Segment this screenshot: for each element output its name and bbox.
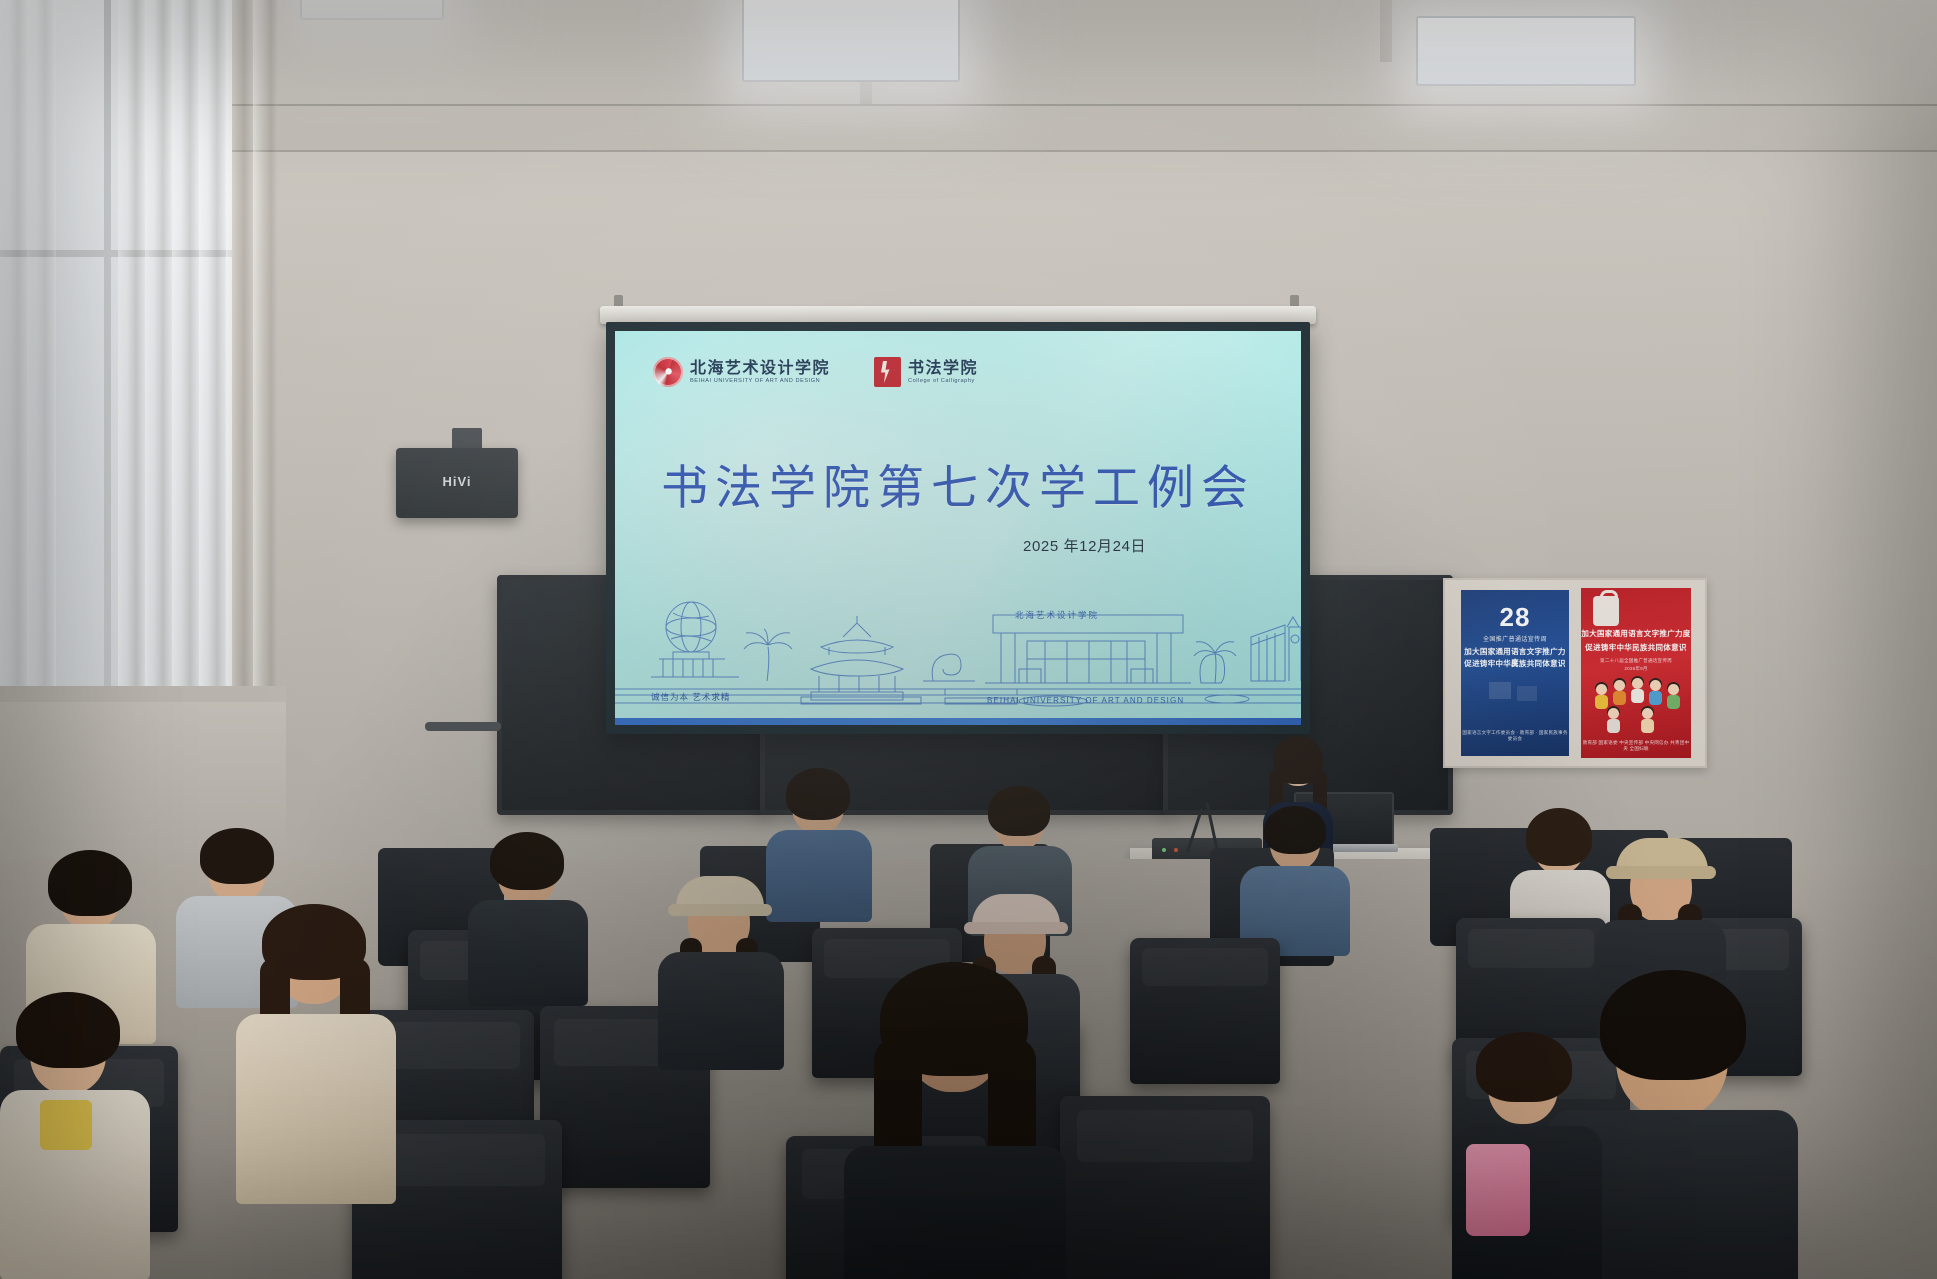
poster-sub: 第二十八届全国推广普通话宣传周 xyxy=(1581,658,1691,664)
window-frame xyxy=(104,0,111,690)
slide-motto: 诚信为本 艺术求精 xyxy=(651,691,730,703)
meeting-room-photo: HiVi 北海艺术设计学院 BEIHAI UNIVERSITY OF ART A… xyxy=(0,0,1937,1279)
logo-en-text: BEIHAI UNIVERSITY OF ART AND DESIGN xyxy=(690,379,830,384)
audience-member xyxy=(658,866,784,1066)
poster-number: 28 xyxy=(1461,602,1569,633)
seat[interactable] xyxy=(1130,938,1280,1084)
poster-footer: 教育部 国家语委 中央宣传部 中央网信办 共青团中央 全国妇联 xyxy=(1581,740,1691,752)
audience-member xyxy=(236,900,396,1200)
ceiling-light-panel xyxy=(300,0,444,20)
slide: 北海艺术设计学院 BEIHAI UNIVERSITY OF ART AND DE… xyxy=(615,331,1301,725)
projection-screen: 北海艺术设计学院 BEIHAI UNIVERSITY OF ART AND DE… xyxy=(606,322,1310,734)
poster-slogan-line1: 加大国家通用语言文字推广力度 xyxy=(1581,628,1691,639)
speaker-mount xyxy=(452,428,482,450)
ceiling-light-panel xyxy=(1416,16,1636,86)
audience-member xyxy=(1452,1032,1602,1279)
logo-cn-text: 北海艺术设计学院 xyxy=(690,360,830,376)
seal-icon xyxy=(874,357,901,387)
audience-member xyxy=(0,992,150,1279)
spiral-icon xyxy=(653,357,683,387)
poster-footer: 国家语言文字工作委员会 · 教育部 · 国家民族事务委员会 xyxy=(1461,730,1569,742)
poster-slogan-line2: 促进铸牢中华民族共同体意识 xyxy=(1581,642,1691,653)
putonghua-week-poster-red: 加大国家通用语言文字推广力度 促进铸牢中华民族共同体意识 第二十八届全国推广普通… xyxy=(1581,588,1691,758)
audience-member xyxy=(468,832,588,1002)
logo-cn-text: 书法学院 xyxy=(908,360,978,376)
emblem-icon xyxy=(1593,596,1619,626)
slide-logo-row: 北海艺术设计学院 BEIHAI UNIVERSITY OF ART AND DE… xyxy=(653,357,978,387)
speaker-hivi: HiVi xyxy=(396,448,518,518)
logo-en-text: College of Calligraphy xyxy=(908,379,978,384)
campus-skyline-illustration xyxy=(615,585,1301,725)
slide-artwork: 诚信为本 艺术求精 北海艺术设计学院 BEIHAI UNIVERSITY OF … xyxy=(615,585,1301,725)
wall-bracket xyxy=(425,722,501,731)
ceiling-light-panel xyxy=(742,0,960,82)
poster-slogan-line2: 促进铸牢中华民族共同体意识 xyxy=(1461,658,1569,669)
poster-kicker: 全国推广普通话宣传周 xyxy=(1461,634,1569,643)
poster-sub2: 2025年9月 xyxy=(1581,666,1691,672)
seat[interactable] xyxy=(1060,1096,1270,1279)
beihai-university-logo: 北海艺术设计学院 BEIHAI UNIVERSITY OF ART AND DE… xyxy=(653,357,830,387)
pink-phone xyxy=(1466,1144,1530,1236)
college-of-calligraphy-logo: 书法学院 College of Calligraphy xyxy=(874,357,978,387)
ceiling xyxy=(0,0,1937,150)
audience-member xyxy=(840,956,1070,1279)
ceiling-seam xyxy=(0,104,1937,106)
audience-member xyxy=(1240,808,1350,950)
ceiling-beam xyxy=(1380,0,1392,62)
slide-footer-bar xyxy=(615,718,1301,725)
window-sill xyxy=(0,686,286,702)
speaker-brand-label: HiVi xyxy=(396,474,518,489)
curtain xyxy=(0,0,56,690)
putonghua-week-poster-blue: 28 全国推广普通话宣传周 加大国家通用语言文字推广力度 促进铸牢中华民族共同体… xyxy=(1461,590,1569,756)
ceiling-seam xyxy=(0,150,1937,152)
slide-title: 书法学院第七次学工例会 xyxy=(615,449,1301,518)
slide-date: 2025 年12月24日 xyxy=(1023,535,1146,556)
university-english-band: BEIHAI UNIVERSITY OF ART AND DESIGN xyxy=(987,696,1184,705)
poster-board: 28 全国推广普通话宣传周 加大国家通用语言文字推广力度 促进铸牢中华民族共同体… xyxy=(1443,578,1707,768)
gate-sign-text: 北海艺术设计学院 xyxy=(1015,609,1099,621)
